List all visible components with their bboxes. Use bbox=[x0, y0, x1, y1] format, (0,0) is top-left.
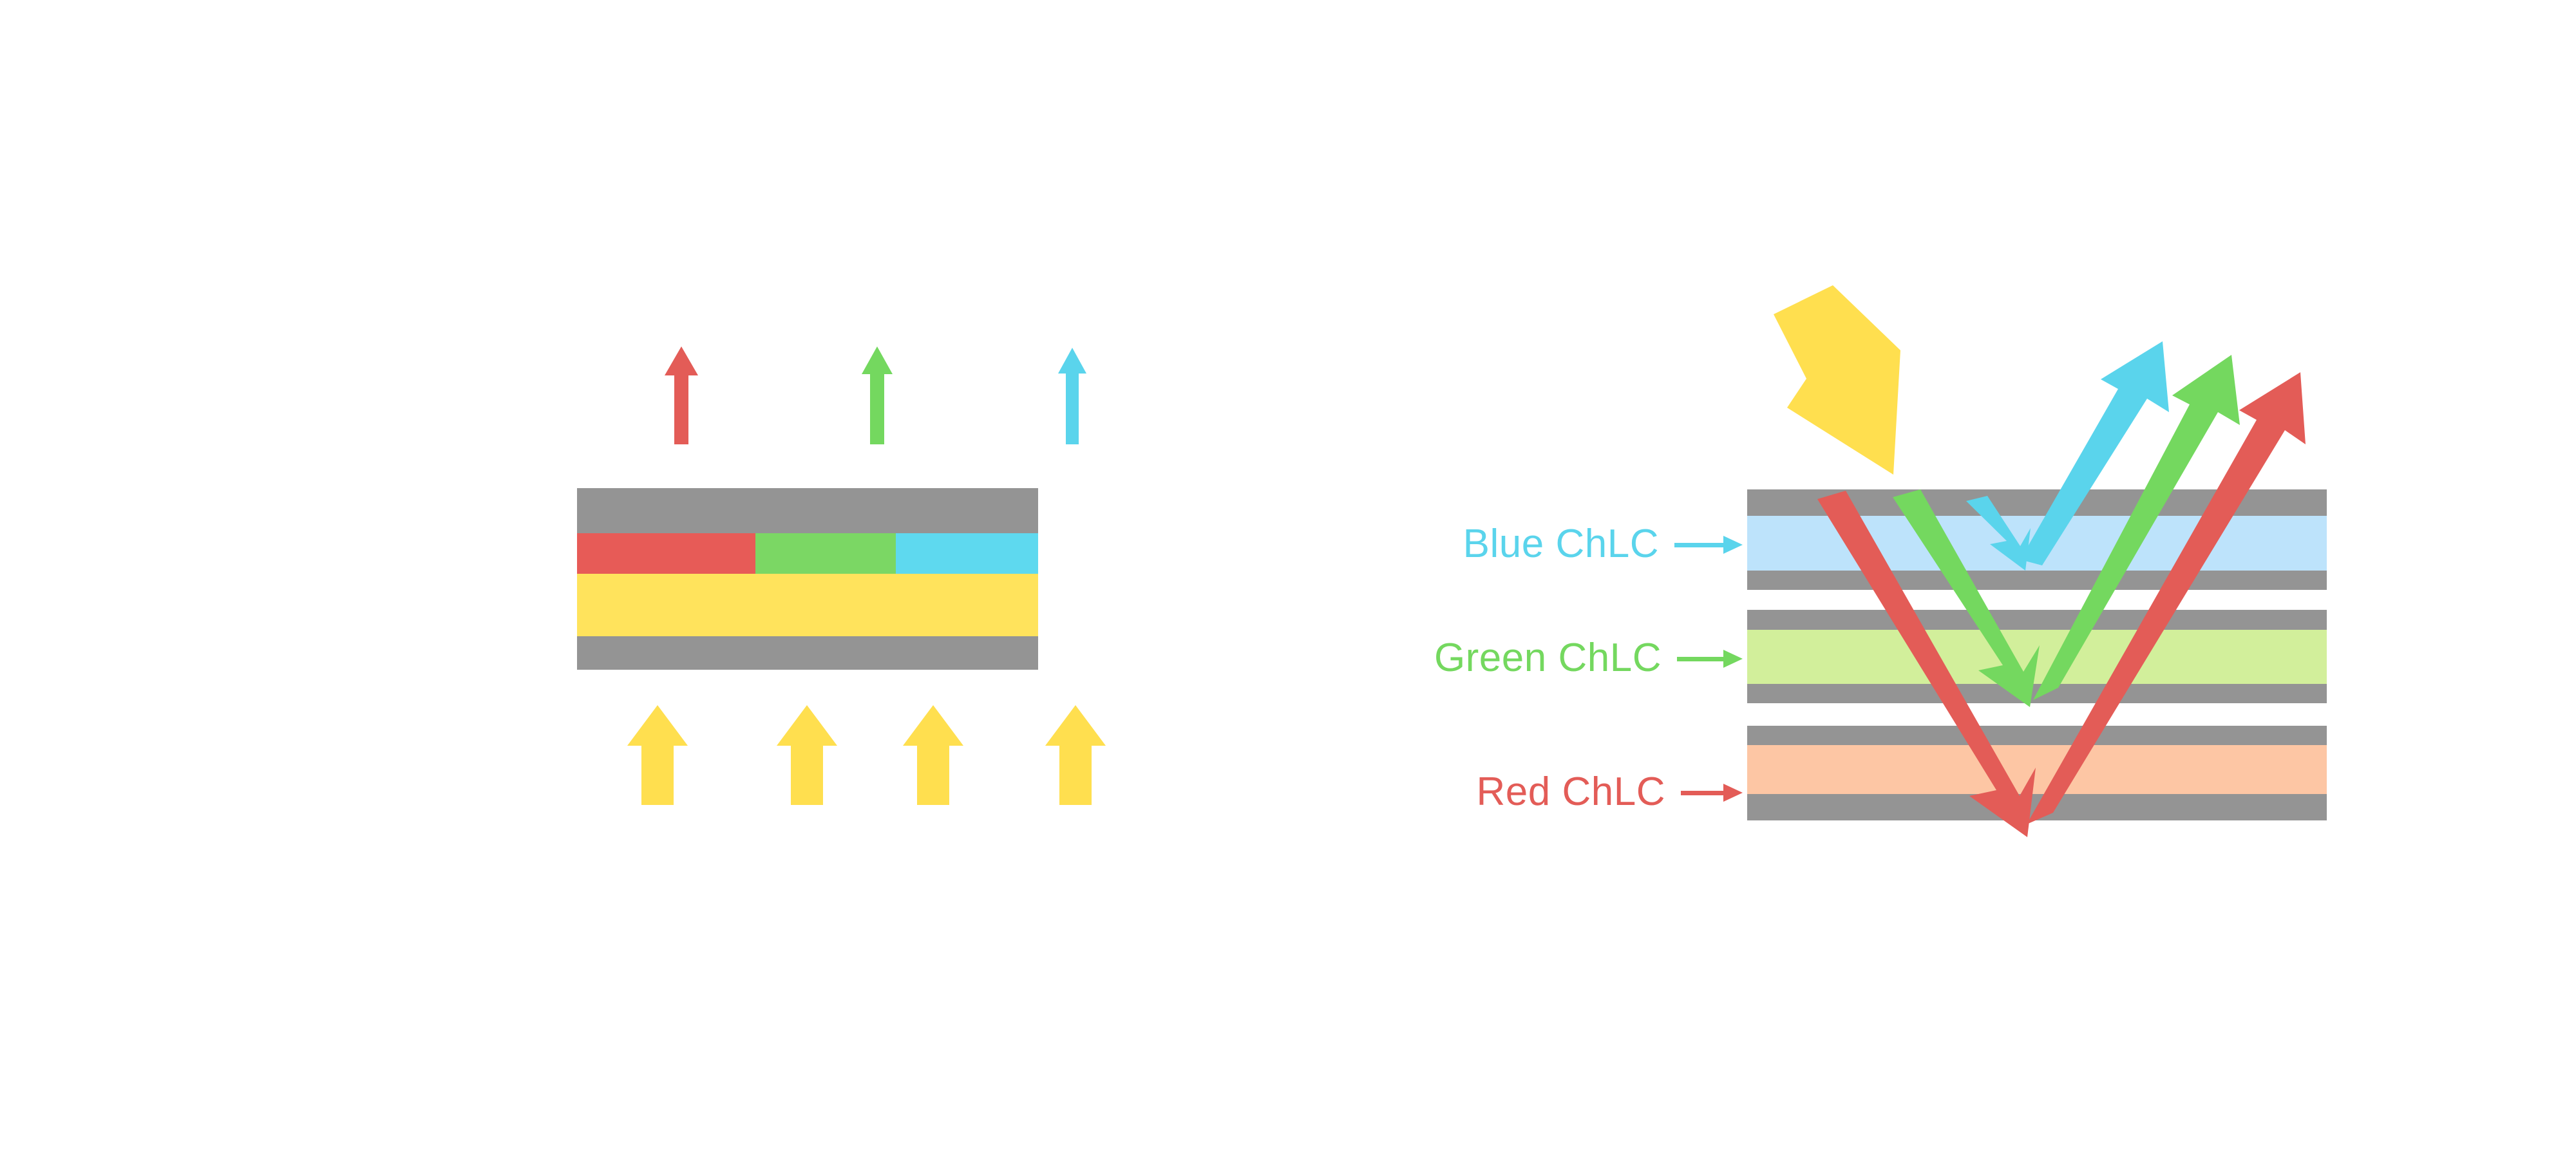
backlight-arrow-3 bbox=[903, 705, 963, 805]
blue-cell-bottom-electrode bbox=[1747, 571, 2327, 590]
gap-1 bbox=[1747, 590, 2327, 610]
chlc-display-diagram: Blue ChLC Green ChLC Red ChLC bbox=[0, 0, 2576, 1154]
left-top-substrate bbox=[577, 488, 1038, 533]
emitted-red-arrow bbox=[665, 346, 703, 444]
left-bottom-substrate bbox=[577, 636, 1038, 670]
red-chlc-layer bbox=[1747, 745, 2327, 794]
right-panel-group: Blue ChLC Green ChLC Red ChLC bbox=[1434, 285, 2327, 837]
backlight-arrow-1 bbox=[627, 705, 688, 805]
red-label-pointer-arrow bbox=[1681, 784, 1743, 802]
diagram-canvas: Blue ChLC Green ChLC Red ChLC bbox=[0, 0, 2576, 1154]
backlight-arrow-2 bbox=[777, 705, 837, 805]
blue-label-pointer-arrow bbox=[1674, 536, 1743, 554]
red-chlc-label: Red ChLC bbox=[1477, 770, 1665, 814]
green-chlc-label: Green ChLC bbox=[1434, 636, 1662, 680]
emitted-blue-arrow bbox=[1058, 348, 1086, 444]
left-backlight-layer bbox=[577, 574, 1038, 636]
green-label-pointer-arrow bbox=[1677, 650, 1743, 668]
left-panel-group bbox=[577, 346, 1106, 805]
green-cell-top-electrode bbox=[1747, 610, 2327, 630]
blue-chlc-label: Blue ChLC bbox=[1463, 522, 1659, 566]
left-green-filter bbox=[755, 533, 896, 574]
left-red-filter bbox=[577, 533, 755, 574]
left-blue-filter bbox=[896, 533, 1038, 574]
gap-2 bbox=[1747, 703, 2327, 726]
red-cell-top-electrode bbox=[1747, 726, 2327, 745]
backlight-arrow-4 bbox=[1045, 705, 1106, 805]
ambient-incident-ray bbox=[1774, 285, 1900, 475]
emitted-green-arrow bbox=[862, 346, 893, 444]
